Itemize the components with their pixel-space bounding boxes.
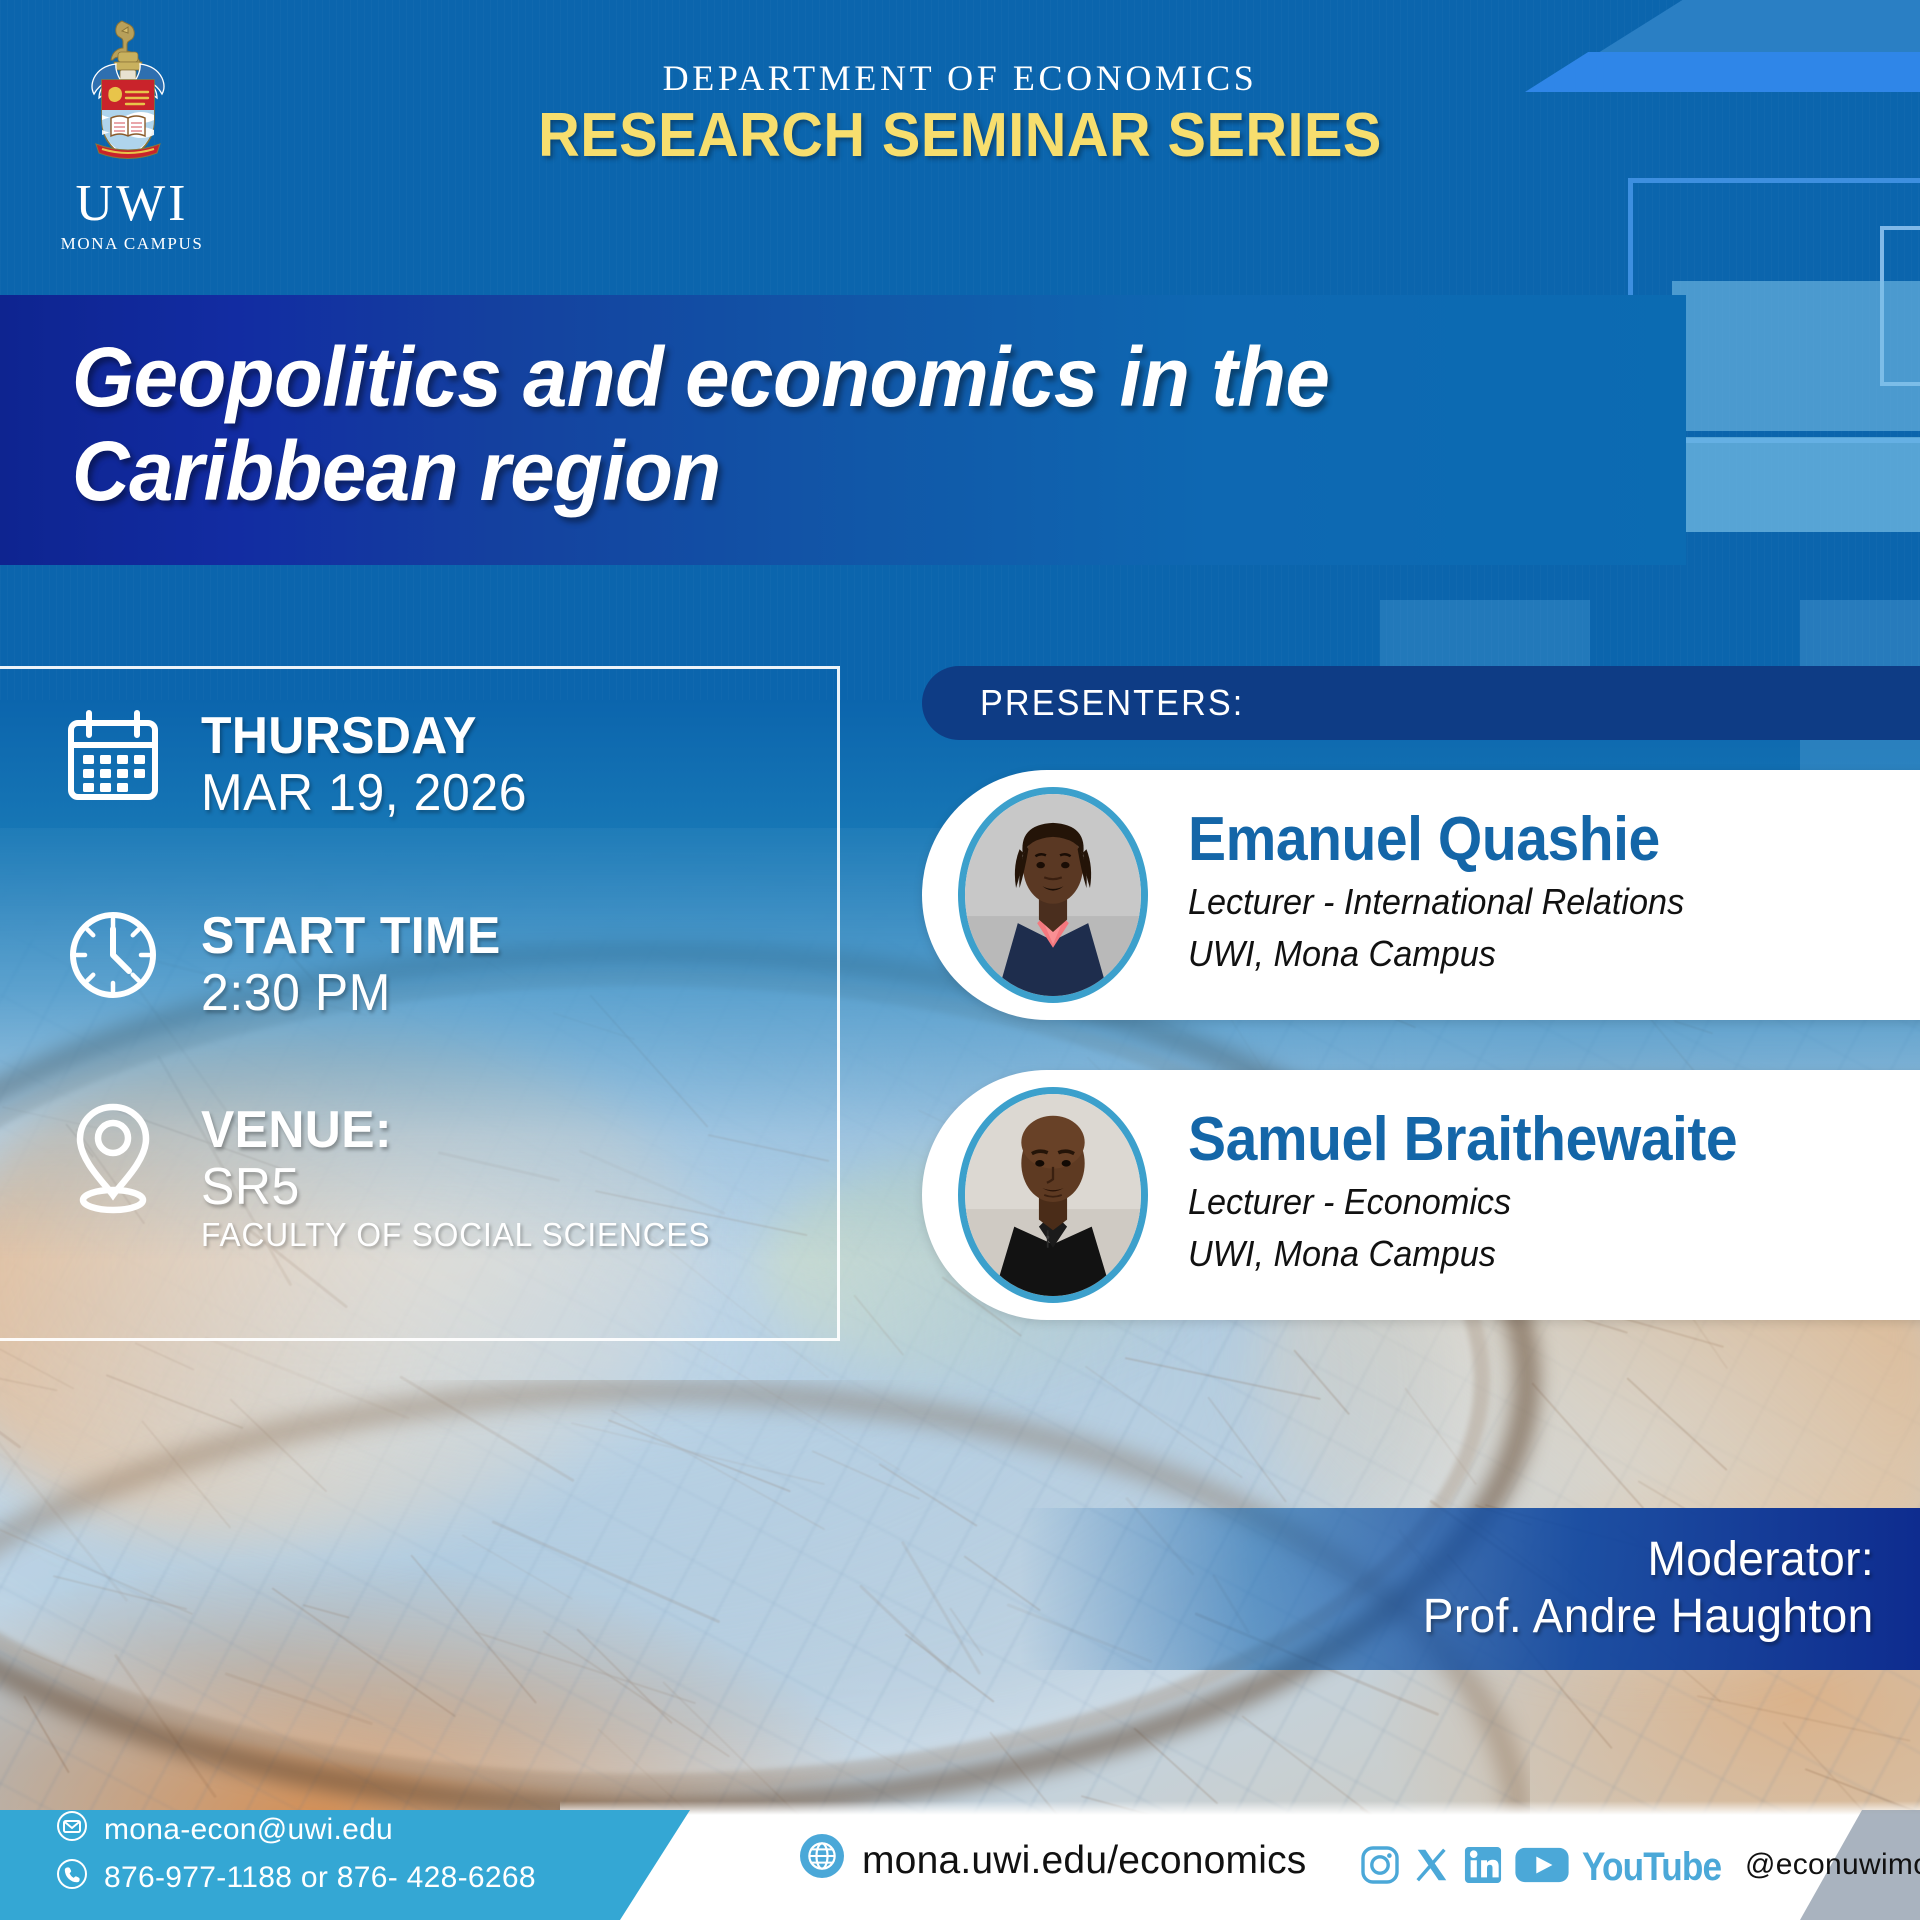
clock-icon — [60, 905, 165, 1005]
footer-social-icons: YouTube — [1360, 1845, 1740, 1890]
presenter-name: Samuel Braithewaite — [1188, 1108, 1737, 1171]
moderator-band: Moderator: Prof. Andre Haughton — [1020, 1508, 1920, 1670]
calendar-icon — [60, 705, 165, 805]
footer: mona-econ@uwi.edu 876-977-1188 or 876- 4… — [0, 1810, 1920, 1920]
event-poster: UWI MONA CAMPUS DEPARTMENT OF ECONOMICS … — [0, 0, 1920, 1920]
presenter-affiliation: UWI, Mona Campus — [1188, 1232, 1755, 1276]
instagram-icon[interactable] — [1360, 1845, 1400, 1890]
moderator-name: Prof. Andre Haughton — [1423, 1589, 1874, 1646]
email-text: mona-econ@uwi.edu — [104, 1813, 393, 1847]
presenter-card: Emanuel Quashie Lecturer - International… — [922, 770, 1920, 1020]
footer-contact: mona-econ@uwi.edu 876-977-1188 or 876- 4… — [56, 1810, 536, 1906]
presenter-name: Emanuel Quashie — [1188, 808, 1668, 871]
uwi-abbrev: UWI — [52, 178, 212, 230]
series-title: RESEARCH SEMINAR SERIES — [67, 100, 1853, 171]
department-label: DEPARTMENT OF ECONOMICS — [0, 57, 1920, 99]
venue-sub: FACULTY OF SOCIAL SCIENCES — [201, 1216, 711, 1254]
phone-icon — [56, 1858, 88, 1898]
moderator-label: Moderator: — [1647, 1532, 1874, 1589]
presenter-card: Samuel Braithewaite Lecturer - Economics… — [922, 1070, 1920, 1320]
email-icon — [56, 1810, 88, 1850]
footer-website[interactable]: mona.uwi.edu/economics — [800, 1834, 1306, 1888]
time-label: START TIME — [201, 909, 501, 964]
detail-row-venue: VENUE: SR5 FACULTY OF SOCIAL SCIENCES — [60, 1099, 732, 1254]
footer-phone-row[interactable]: 876-977-1188 or 876- 428-6268 — [56, 1858, 536, 1898]
presenter-role: Lecturer - International Relations — [1188, 880, 1684, 924]
detail-row-time: START TIME 2:30 PM — [60, 905, 513, 1022]
linkedin-icon[interactable] — [1464, 1846, 1502, 1889]
website-text: mona.uwi.edu/economics — [862, 1839, 1306, 1883]
seminar-title-line1: Geopolitics and economics in the — [72, 330, 1554, 424]
presenters-heading-pill: PRESENTERS: — [922, 666, 1920, 740]
avatar — [958, 787, 1148, 1003]
time-value: 2:30 PM — [201, 964, 501, 1022]
youtube-wordmark: YouTube — [1582, 1845, 1721, 1890]
x-twitter-icon[interactable] — [1413, 1846, 1451, 1889]
venue-value: SR5 — [201, 1158, 711, 1216]
avatar — [958, 1087, 1148, 1303]
presenter-affiliation: UWI, Mona Campus — [1188, 932, 1684, 976]
corner-parallelogram-1 — [1590, 0, 1920, 58]
globe-icon — [800, 1834, 844, 1888]
presenter-role: Lecturer - Economics — [1188, 1180, 1755, 1224]
seminar-title: Geopolitics and economics in the Caribbe… — [72, 330, 1554, 518]
social-handle: @econuwimona — [1745, 1848, 1920, 1882]
filled-rectangle-2 — [1672, 437, 1920, 532]
phone-text: 876-977-1188 or 876- 428-6268 — [104, 1861, 536, 1895]
filled-rectangle-1 — [1672, 281, 1920, 431]
brand-wordmark: UWI MONA CAMPUS — [52, 178, 212, 254]
event-details-box: THURSDAY MAR 19, 2026 START TIME 2:3 — [0, 666, 840, 1341]
date-value: MAR 19, 2026 — [201, 764, 527, 822]
seminar-title-line2: Caribbean region — [72, 424, 1554, 518]
detail-row-date: THURSDAY MAR 19, 2026 — [60, 705, 541, 822]
presenters-heading: PRESENTERS: — [980, 682, 1244, 724]
date-label: THURSDAY — [201, 709, 527, 764]
youtube-icon[interactable] — [1515, 1846, 1569, 1889]
campus-label: MONA CAMPUS — [52, 234, 212, 254]
venue-label: VENUE: — [201, 1103, 711, 1158]
footer-email-row[interactable]: mona-econ@uwi.edu — [56, 1810, 536, 1850]
location-pin-icon — [60, 1099, 165, 1214]
